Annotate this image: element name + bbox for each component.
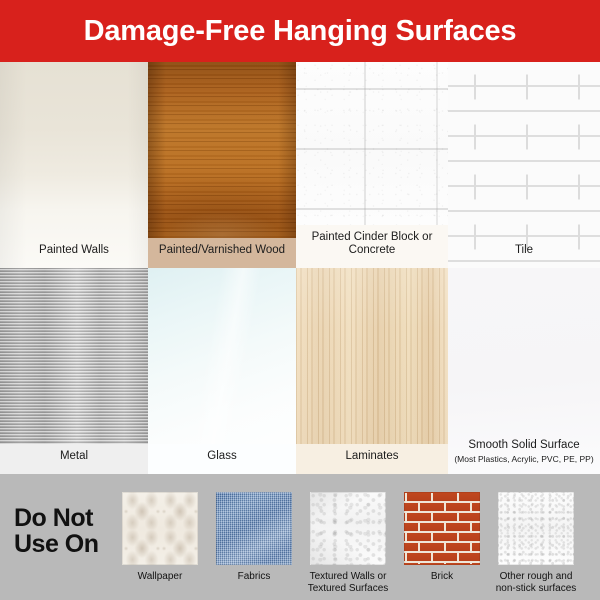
surface-label-metal: Metal <box>0 450 148 474</box>
surface-cell-cinder-block[interactable]: Painted Cinder Block or Concrete <box>296 62 448 268</box>
caption-plate: Painted Cinder Block or Concrete <box>296 225 448 268</box>
glass-texture <box>148 268 296 474</box>
laminate-texture <box>296 268 448 474</box>
surface-cell-wood[interactable]: Painted/Varnished Wood <box>148 62 296 268</box>
surface-label-cinder-block: Painted Cinder Block or Concrete <box>296 231 448 268</box>
caption-plate: Laminates <box>296 444 448 474</box>
infographic-root: Damage-Free Hanging Surfaces Painted Wal… <box>0 0 600 600</box>
surface-sublabel-smooth-solid-surface: (Most Plastics, Acrylic, PVC, PE, PP) <box>451 454 597 464</box>
caption-plate: Painted/Varnished Wood <box>148 238 296 268</box>
do-not-use-item-rough-surfaces[interactable]: Other rough and non-stick surfaces <box>490 492 582 595</box>
surface-cell-smooth-solid-surface[interactable]: Smooth Solid Surface (Most Plastics, Acr… <box>448 268 600 474</box>
surface-label-glass: Glass <box>148 450 296 474</box>
do-not-use-label-textured-walls: Textured Walls or Textured Surfaces <box>302 571 394 595</box>
do-not-use-title-line-1: Do Not <box>14 505 114 531</box>
rough-surface-texture <box>498 492 574 565</box>
do-not-use-title-line-2: Use On <box>14 531 114 557</box>
caption-plate: Metal <box>0 444 148 474</box>
do-not-use-items: Wallpaper Fabrics Textured Walls or Text… <box>114 480 594 595</box>
caption-plate: Glass <box>148 444 296 474</box>
textured-wall-texture <box>310 492 386 565</box>
surface-label-painted-walls: Painted Walls <box>0 244 148 268</box>
do-not-use-section: Do Not Use On Wallpaper Fabrics Textured… <box>0 474 600 600</box>
wallpaper-texture <box>122 492 198 565</box>
caption-plate: Tile <box>448 238 600 268</box>
surface-label-laminates: Laminates <box>296 450 448 474</box>
fabric-texture <box>216 492 292 565</box>
tile-rows <box>448 62 600 268</box>
do-not-use-title: Do Not Use On <box>6 505 114 570</box>
painted-wall-texture <box>0 62 148 268</box>
page-title: Damage-Free Hanging Surfaces <box>84 17 517 46</box>
surface-caption-smooth-solid: Smooth Solid Surface (Most Plastics, Acr… <box>448 439 600 474</box>
do-not-use-label-wallpaper: Wallpaper <box>138 571 183 583</box>
do-not-use-label-rough-surfaces: Other rough and non-stick surfaces <box>490 571 582 595</box>
surface-cell-laminates[interactable]: Laminates <box>296 268 448 474</box>
caption-plate: Smooth Solid Surface (Most Plastics, Acr… <box>448 433 600 474</box>
surface-label-smooth-solid-surface: Smooth Solid Surface <box>468 439 579 451</box>
caption-plate: Painted Walls <box>0 238 148 268</box>
tile-texture <box>448 62 600 268</box>
do-not-use-item-brick[interactable]: Brick <box>396 492 488 583</box>
do-not-use-label-brick: Brick <box>431 571 453 583</box>
surfaces-grid: Painted Walls Painted/Varnished Wood Pai… <box>0 62 600 474</box>
surface-label-tile: Tile <box>448 244 600 268</box>
surface-cell-painted-walls[interactable]: Painted Walls <box>0 62 148 268</box>
brick-texture <box>404 492 480 565</box>
do-not-use-item-wallpaper[interactable]: Wallpaper <box>114 492 206 583</box>
surfaces-row-1: Painted Walls Painted/Varnished Wood Pai… <box>0 62 600 268</box>
surfaces-row-2: Metal Glass Laminates Smooth So <box>0 268 600 474</box>
header-banner: Damage-Free Hanging Surfaces <box>0 0 600 62</box>
wood-texture <box>148 62 296 268</box>
surface-cell-metal[interactable]: Metal <box>0 268 148 474</box>
do-not-use-item-textured-walls[interactable]: Textured Walls or Textured Surfaces <box>302 492 394 595</box>
surface-cell-glass[interactable]: Glass <box>148 268 296 474</box>
surface-cell-tile[interactable]: Tile <box>448 62 600 268</box>
surface-label-wood: Painted/Varnished Wood <box>148 244 296 268</box>
do-not-use-item-fabrics[interactable]: Fabrics <box>208 492 300 583</box>
metal-texture <box>0 268 148 474</box>
do-not-use-label-fabrics: Fabrics <box>238 571 271 583</box>
